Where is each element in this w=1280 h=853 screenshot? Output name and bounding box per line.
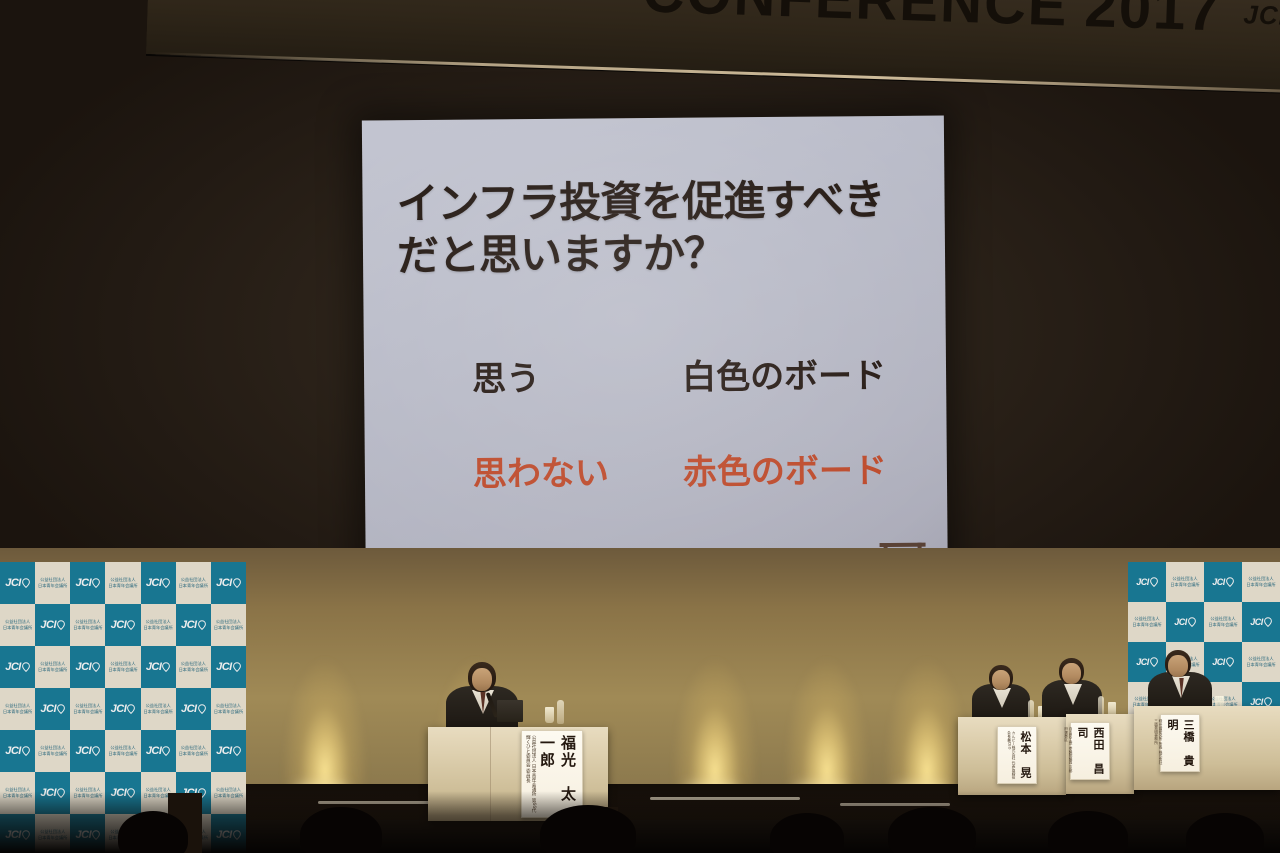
conference-hall-photo: CONFERENCE2017JCI インフラ投資を促進すべき だと思いますか？ … [0, 0, 1280, 853]
projection-screen: インフラ投資を促進すべき だと思いますか？ 思う 白色のボード 思わない 赤色の… [362, 115, 948, 618]
jci-logo: JCI [111, 619, 136, 631]
moderator-laptop [497, 700, 523, 722]
jci-logo: JCI [146, 661, 171, 673]
jci-backdrop-tile: JCI [211, 730, 246, 772]
location-pin-icon [22, 662, 30, 672]
panelist-3-face [1168, 655, 1188, 677]
jci-backdrop-tile: 公益社団法人日本青年会議所 [176, 562, 211, 604]
jci-backdrop-tile: JCI [0, 562, 35, 604]
audience-silhouette-row [0, 791, 1280, 853]
audience-head [888, 807, 976, 853]
jci-backdrop-tile: JCI [1242, 602, 1280, 642]
jci-org-name: 公益社団法人日本青年会議所 [1170, 576, 1199, 588]
placard-title: カルビー株式会社 代表取締役会長兼CEO [1007, 731, 1016, 779]
answer-option-no: 思わない 赤色のボード [473, 442, 943, 495]
jci-backdrop-tile: 公益社団法人日本青年会議所 [1242, 642, 1280, 682]
answer-yes-board: 白色のボード [682, 348, 886, 399]
jci-org-name: 公益社団法人日本青年会議所 [108, 577, 137, 589]
location-pin-icon [233, 662, 241, 672]
jci-org-name: 公益社団法人日本青年会議所 [38, 577, 67, 589]
jci-org-name: 公益社団法人日本青年会議所 [73, 619, 102, 631]
moderator-face [472, 668, 492, 691]
jci-backdrop-tile: JCI [0, 730, 35, 772]
location-pin-icon [162, 746, 170, 756]
jci-org-name: 公益社団法人日本青年会議所 [3, 619, 32, 631]
location-pin-icon [198, 620, 206, 630]
jci-org-name: 公益社団法人日本青年会議所 [38, 745, 67, 757]
location-pin-icon [127, 620, 135, 630]
location-pin-icon [162, 662, 170, 672]
uplight-glow [282, 610, 368, 806]
jci-backdrop-tile: 公益社団法人日本青年会議所 [176, 646, 211, 688]
jci-backdrop-tile: JCI [141, 646, 176, 688]
jci-backdrop-tile: 公益社団法人日本青年会議所 [35, 646, 70, 688]
jci-backdrop-tile: 公益社団法人日本青年会議所 [1166, 562, 1204, 602]
banner-conference-word: CONFERENCE [642, 0, 1070, 38]
jci-backdrop-tile: 公益社団法人日本青年会議所 [1242, 562, 1280, 602]
jci-logo: JCI [76, 577, 101, 589]
water-glass [545, 707, 554, 723]
jci-logo: JCI [40, 703, 65, 715]
jci-org-name: 公益社団法人日本青年会議所 [1246, 576, 1275, 588]
jci-logo: JCI [5, 745, 30, 757]
jci-logo: JCI [1250, 617, 1272, 627]
jci-org-name: 公益社団法人日本青年会議所 [214, 703, 243, 715]
jci-backdrop-tile: JCI [70, 730, 105, 772]
jci-backdrop-tile: JCI [1204, 642, 1242, 682]
audience-head [1186, 813, 1264, 853]
jci-org-name: 公益社団法人日本青年会議所 [1246, 656, 1275, 668]
jci-logo: JCI [181, 619, 206, 631]
jci-backdrop-tile: 公益社団法人日本青年会議所 [0, 604, 35, 646]
audience-head [540, 805, 636, 853]
jci-logo: JCI [111, 703, 136, 715]
uplight-glow [784, 610, 870, 806]
jci-logo: JCI [216, 745, 241, 757]
placard-panelist-2: 西田 昌司 自由民主党 参議院議員 京都府選挙区 [1070, 722, 1110, 780]
jci-logo: JCI [5, 577, 30, 589]
jci-logo: JCI [1136, 577, 1158, 587]
jci-backdrop-tile: JCI [0, 646, 35, 688]
location-pin-icon [57, 620, 65, 630]
jci-logo: JCI [1174, 617, 1196, 627]
placard-title: 自由民主党 参議院議員 京都府選挙区 [1064, 727, 1073, 775]
jci-backdrop-tile: 公益社団法人日本青年会議所 [176, 730, 211, 772]
jci-backdrop-tile: JCI [105, 604, 140, 646]
jci-logo: JCI [5, 661, 30, 673]
location-pin-icon [22, 578, 30, 588]
panelist-1-face [992, 670, 1010, 690]
location-pin-icon [198, 704, 206, 714]
jci-backdrop-tile: 公益社団法人日本青年会議所 [70, 604, 105, 646]
jci-backdrop-tile: JCI [211, 562, 246, 604]
audience-head [770, 813, 844, 853]
jci-backdrop-tile: 公益社団法人日本青年会議所 [141, 604, 176, 646]
jci-backdrop-tile: 公益社団法人日本青年会議所 [105, 730, 140, 772]
location-pin-icon [1226, 577, 1234, 587]
jci-logo: JCI [1136, 657, 1158, 667]
jci-backdrop-tile: 公益社団法人日本青年会議所 [105, 646, 140, 688]
audience-head [1048, 811, 1128, 853]
answer-option-yes: 思う 白色のボード [472, 347, 942, 400]
jci-org-name: 公益社団法人日本青年会議所 [108, 661, 137, 673]
jci-logo: JCI [1212, 577, 1234, 587]
jci-backdrop-tile: 公益社団法人日本青年会議所 [70, 688, 105, 730]
jci-backdrop-tile: JCI [70, 562, 105, 604]
location-pin-icon [57, 704, 65, 714]
answer-no-label: 思わない [473, 445, 683, 496]
jci-org-name: 公益社団法人日本青年会議所 [1208, 616, 1237, 628]
placard-name: 西田 昌司 [1074, 727, 1106, 775]
jci-org-name: 公益社団法人日本青年会議所 [1132, 616, 1161, 628]
jci-logo: JCI [181, 703, 206, 715]
jci-logo: JCI [76, 661, 101, 673]
slide-title-line-1: インフラ投資を促進すべき [396, 174, 924, 231]
location-pin-icon [92, 578, 100, 588]
jci-backdrop-tile: 公益社団法人日本青年会議所 [211, 604, 246, 646]
placard-panelist-1: 松本 晃 カルビー株式会社 代表取締役会長兼CEO [997, 726, 1037, 784]
location-pin-icon [92, 662, 100, 672]
jci-logo: JCI [146, 577, 171, 589]
jci-org-name: 公益社団法人日本青年会議所 [108, 745, 137, 757]
banner-year: 2017 [1084, 0, 1223, 44]
panelist-2-face [1062, 663, 1081, 684]
location-pin-icon [1226, 657, 1234, 667]
jci-org-name: 公益社団法人日本青年会議所 [214, 619, 243, 631]
jci-backdrop-tile: JCI [70, 646, 105, 688]
location-pin-icon [233, 578, 241, 588]
jci-org-name: 公益社団法人日本青年会議所 [143, 703, 172, 715]
location-pin-icon [162, 578, 170, 588]
slide-title: インフラ投資を促進すべき だと思いますか？ [396, 174, 925, 283]
jci-logo: JCI [40, 619, 65, 631]
banner-title: CONFERENCE2017JCI [148, 0, 1280, 48]
banner-jci-mark: JCI [1243, 0, 1280, 31]
jci-backdrop-tile: JCI [35, 604, 70, 646]
slide-answer-options: 思う 白色のボード 思わない 赤色のボード [472, 347, 944, 541]
uplight-glow [672, 610, 758, 806]
jci-backdrop-tile: 公益社団法人日本青年会議所 [211, 688, 246, 730]
slide-title-line-2: だと思いますか？ [397, 226, 925, 283]
jci-logo: JCI [216, 661, 241, 673]
jci-org-name: 公益社団法人日本青年会議所 [179, 577, 208, 589]
location-pin-icon [92, 746, 100, 756]
location-pin-icon [127, 704, 135, 714]
jci-org-name: 公益社団法人日本青年会議所 [73, 703, 102, 715]
jci-logo: JCI [1212, 657, 1234, 667]
jci-org-name: 公益社団法人日本青年会議所 [143, 619, 172, 631]
jci-org-name: 公益社団法人日本青年会議所 [179, 745, 208, 757]
jci-backdrop-tile: 公益社団法人日本青年会議所 [105, 562, 140, 604]
jci-backdrop-tile: 公益社団法人日本青年会議所 [35, 730, 70, 772]
placard-title: 経世論研究所 所長 株式会社三橋貴明事務所 [1154, 719, 1163, 767]
audience-head [300, 807, 382, 853]
jci-logo: JCI [216, 577, 241, 589]
jci-org-name: 公益社団法人日本青年会議所 [38, 661, 67, 673]
jci-org-name: 公益社団法人日本青年会議所 [3, 703, 32, 715]
jci-backdrop-tile: 公益社団法人日本青年会議所 [1204, 602, 1242, 642]
jci-backdrop-tile: JCI [176, 604, 211, 646]
jci-backdrop-tile: 公益社団法人日本青年会議所 [1128, 602, 1166, 642]
location-pin-icon [22, 746, 30, 756]
placard-panelist-3: 三橋 貴明 経世論研究所 所長 株式会社三橋貴明事務所 [1160, 714, 1200, 772]
water-bottle [557, 700, 564, 724]
jci-logo: JCI [76, 745, 101, 757]
location-pin-icon [1150, 577, 1158, 587]
jci-backdrop-tile: JCI [1166, 602, 1204, 642]
jci-backdrop-tile: JCI [141, 730, 176, 772]
jci-backdrop-tile: 公益社団法人日本青年会議所 [0, 688, 35, 730]
location-pin-icon [1264, 617, 1272, 627]
location-pin-icon [1188, 617, 1196, 627]
jci-backdrop-tile: 公益社団法人日本青年会議所 [141, 688, 176, 730]
answer-yes-label: 思う [472, 350, 682, 401]
jci-backdrop-tile: JCI [1128, 562, 1166, 602]
jci-logo: JCI [146, 745, 171, 757]
placard-name: 三橋 貴明 [1164, 719, 1196, 767]
jci-backdrop-tile: JCI [176, 688, 211, 730]
jci-backdrop-tile: JCI [211, 646, 246, 688]
jci-backdrop-tile: JCI [35, 688, 70, 730]
jci-org-name: 公益社団法人日本青年会議所 [179, 661, 208, 673]
answer-no-board: 赤色のボード [683, 443, 887, 494]
jci-backdrop-tile: 公益社団法人日本青年会議所 [35, 562, 70, 604]
jci-backdrop-tile: JCI [141, 562, 176, 604]
jci-backdrop-tile: JCI [1204, 562, 1242, 602]
jci-backdrop-tile: JCI [105, 688, 140, 730]
location-pin-icon [1150, 657, 1158, 667]
location-pin-icon [233, 746, 241, 756]
placard-name: 松本 晃 [1017, 731, 1033, 779]
